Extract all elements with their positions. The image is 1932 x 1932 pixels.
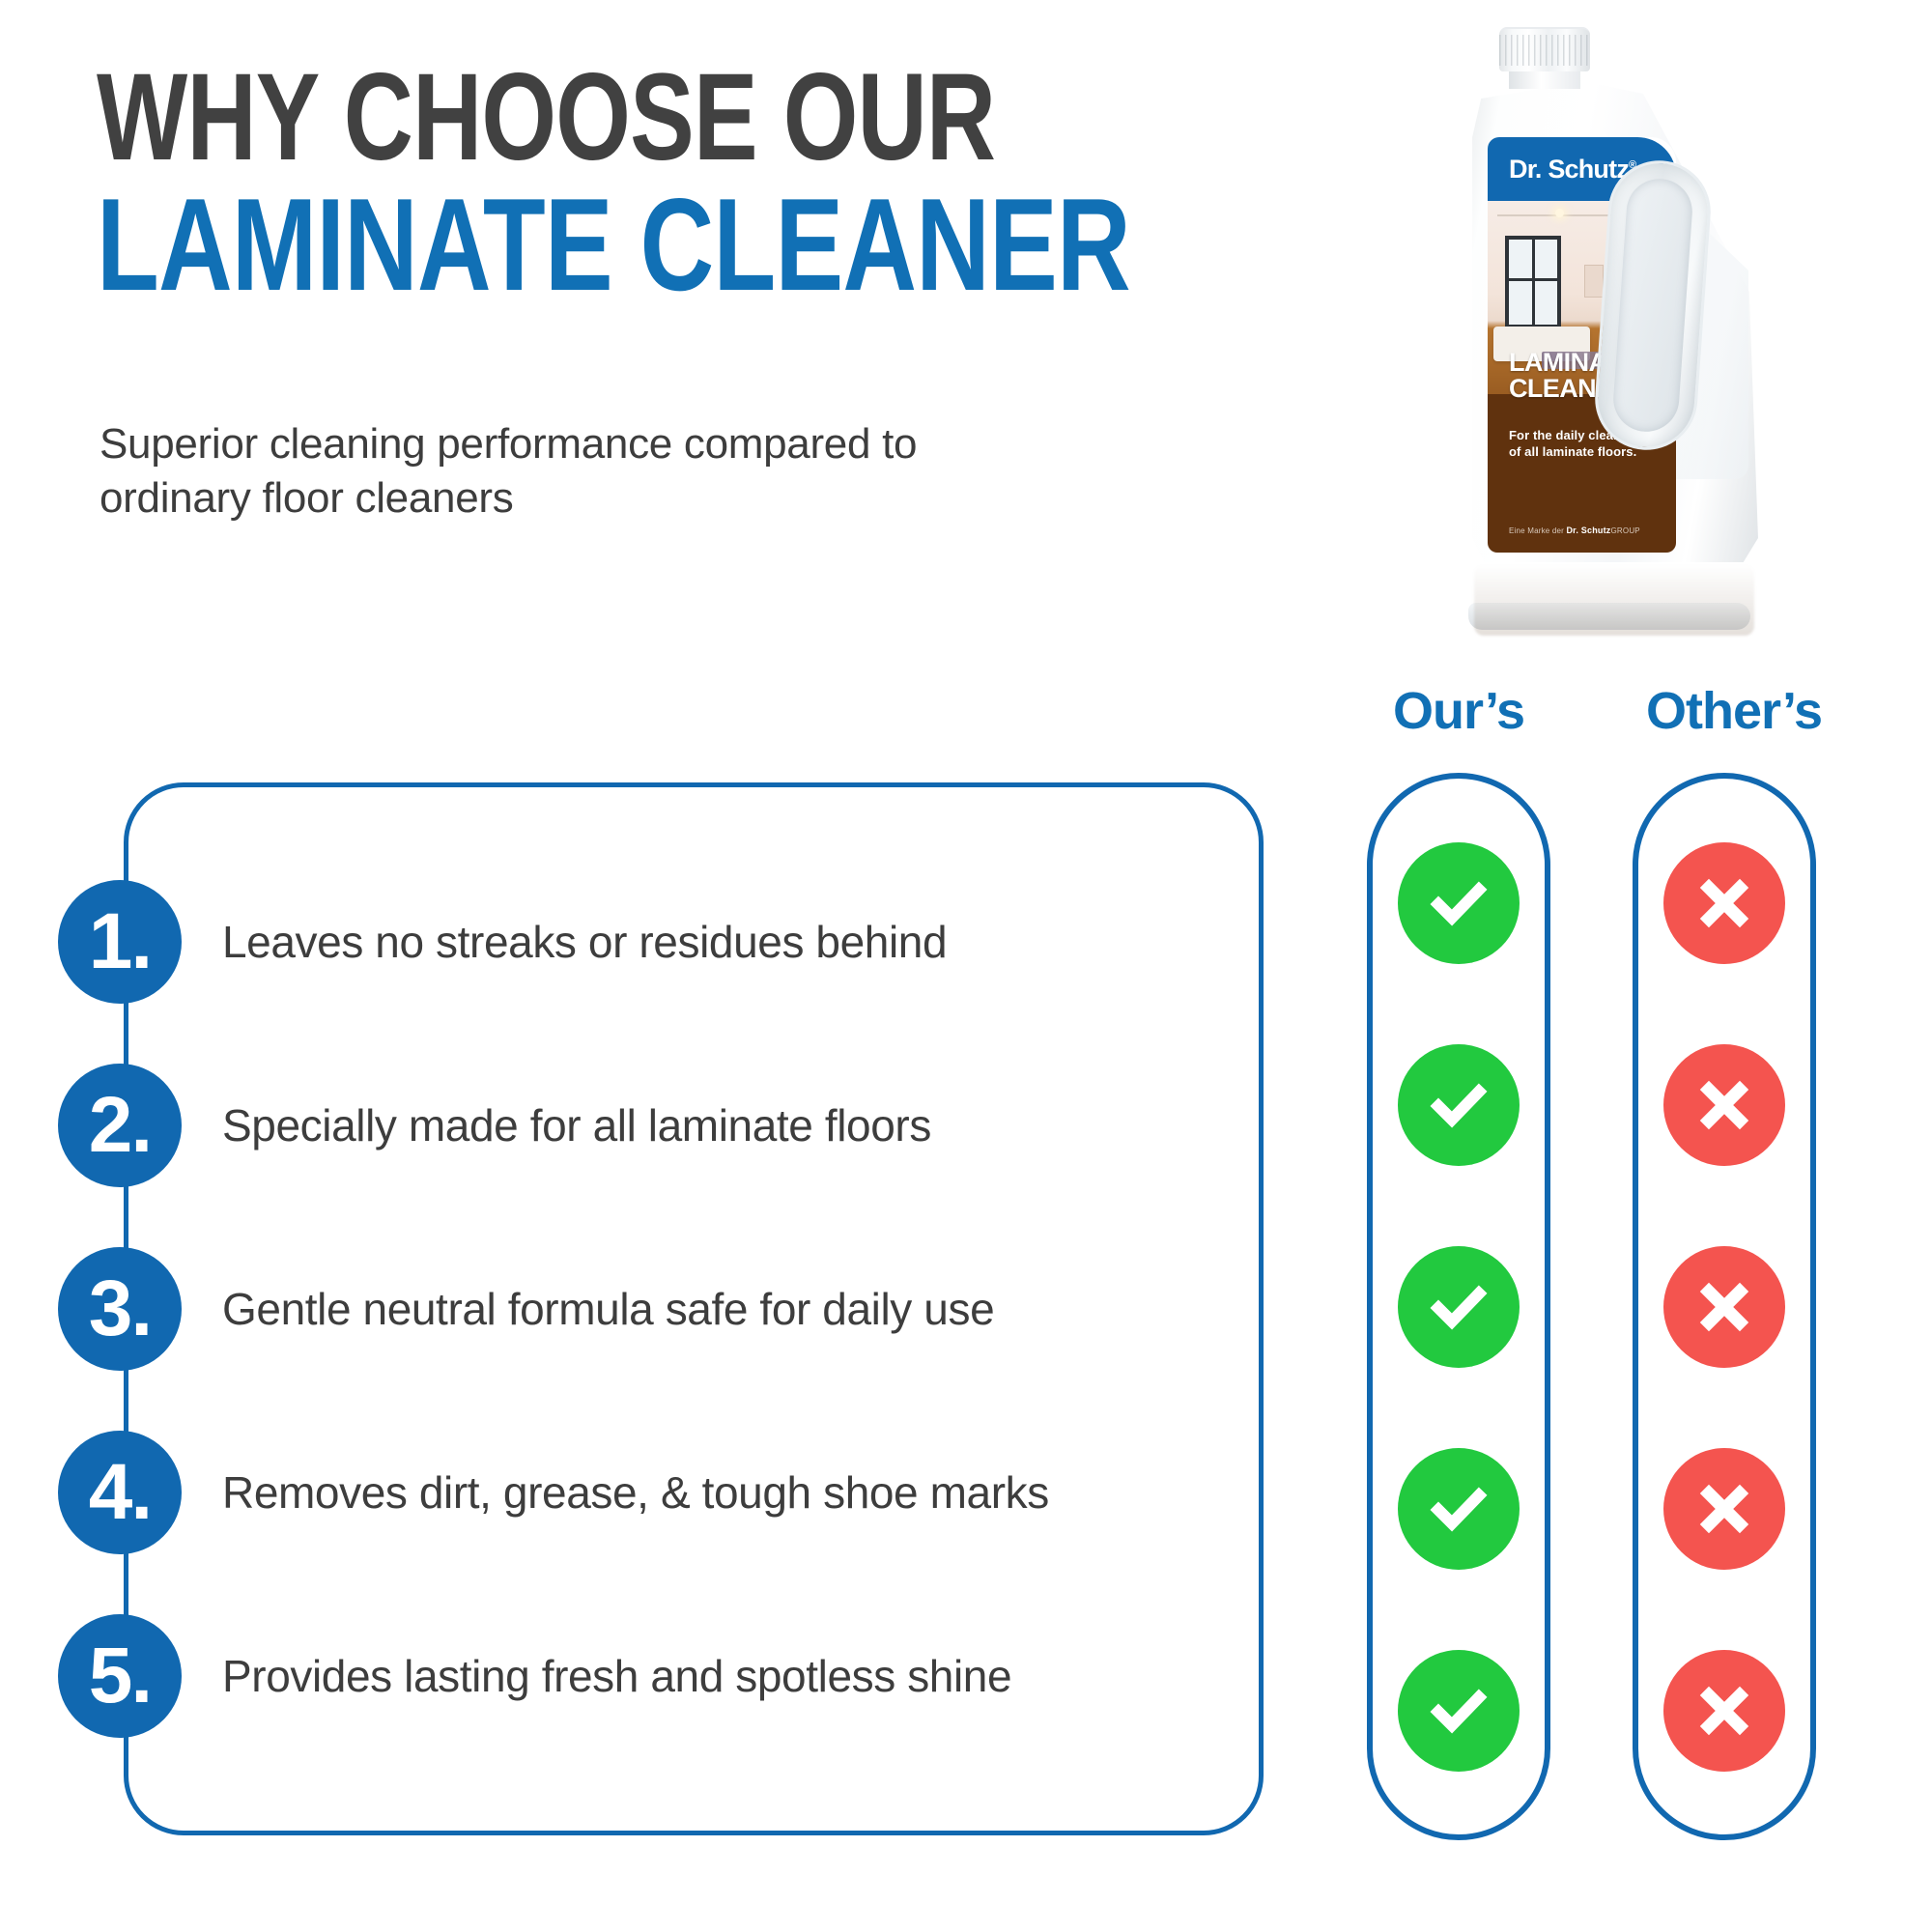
column-header-others: Other’s [1604, 681, 1864, 741]
cross-icon [1663, 842, 1785, 964]
benefits-list: 1. Leaves no streaks or residues behind … [58, 850, 1304, 1768]
headline-line-primary: WHY CHOOSE OUR [97, 58, 941, 178]
footnote-prefix: Eine Marke der [1509, 526, 1564, 535]
cross-icon [1663, 1246, 1785, 1368]
bottle-reflection [1474, 564, 1754, 636]
benefit-number-badge: 1. [58, 880, 182, 1004]
cross-icon [1663, 1650, 1785, 1772]
footnote-brand: Dr. Schutz [1566, 526, 1610, 535]
benefit-number-badge: 4. [58, 1431, 182, 1554]
list-item: 2. Specially made for all laminate floor… [58, 1034, 1304, 1217]
bottle-handle-grip [1592, 157, 1715, 454]
headline-block: WHY CHOOSE OUR LAMINATE CLEANER [97, 58, 1179, 309]
photo-window [1505, 236, 1561, 328]
benefit-number-badge: 3. [58, 1247, 182, 1371]
label-footnote: Eine Marke der Dr. SchutzGROUP [1509, 526, 1640, 535]
benefit-text: Leaves no streaks or residues behind [222, 917, 947, 968]
cross-icon [1663, 1044, 1785, 1166]
headline-line-accent: LAMINATE CLEANER [97, 182, 941, 309]
list-item: 5. Provides lasting fresh and spotless s… [58, 1584, 1304, 1768]
comparison-column-ours [1367, 773, 1550, 1840]
check-icon [1398, 1448, 1520, 1570]
list-item: 1. Leaves no streaks or residues behind [58, 850, 1304, 1034]
benefit-number-badge: 5. [58, 1614, 182, 1738]
footnote-suffix: GROUP [1611, 526, 1640, 535]
list-item: 4. Removes dirt, grease, & tough shoe ma… [58, 1401, 1304, 1584]
brand-text: Dr. Schutz [1509, 155, 1629, 184]
product-bottle-image: Dr. Schutz® LAMINATE CLEANER For the dai… [1459, 27, 1768, 636]
benefit-text: Gentle neutral formula safe for daily us… [222, 1284, 994, 1335]
comparison-column-others [1633, 773, 1816, 1840]
subtitle-text: Superior cleaning performance compared t… [99, 417, 1065, 526]
benefit-text: Removes dirt, grease, & tough shoe marks [222, 1467, 1049, 1519]
photo-wall-art [1584, 265, 1604, 298]
benefit-number-badge: 2. [58, 1064, 182, 1187]
check-icon [1398, 842, 1520, 964]
check-icon [1398, 1246, 1520, 1368]
bottle-cap [1499, 27, 1590, 71]
check-icon [1398, 1650, 1520, 1772]
benefit-text: Specially made for all laminate floors [222, 1100, 931, 1151]
cross-icon [1663, 1448, 1785, 1570]
infographic-page: WHY CHOOSE OUR LAMINATE CLEANER Superior… [0, 0, 1932, 1932]
benefit-text: Provides lasting fresh and spotless shin… [222, 1651, 1011, 1702]
photo-lamp-icon [1555, 209, 1564, 217]
brand-name: Dr. Schutz® [1509, 155, 1635, 185]
list-item: 3. Gentle neutral formula safe for daily… [58, 1217, 1304, 1401]
column-header-ours: Our’s [1352, 681, 1565, 741]
check-icon [1398, 1044, 1520, 1166]
label-description-line2: of all laminate floors. [1509, 444, 1636, 459]
